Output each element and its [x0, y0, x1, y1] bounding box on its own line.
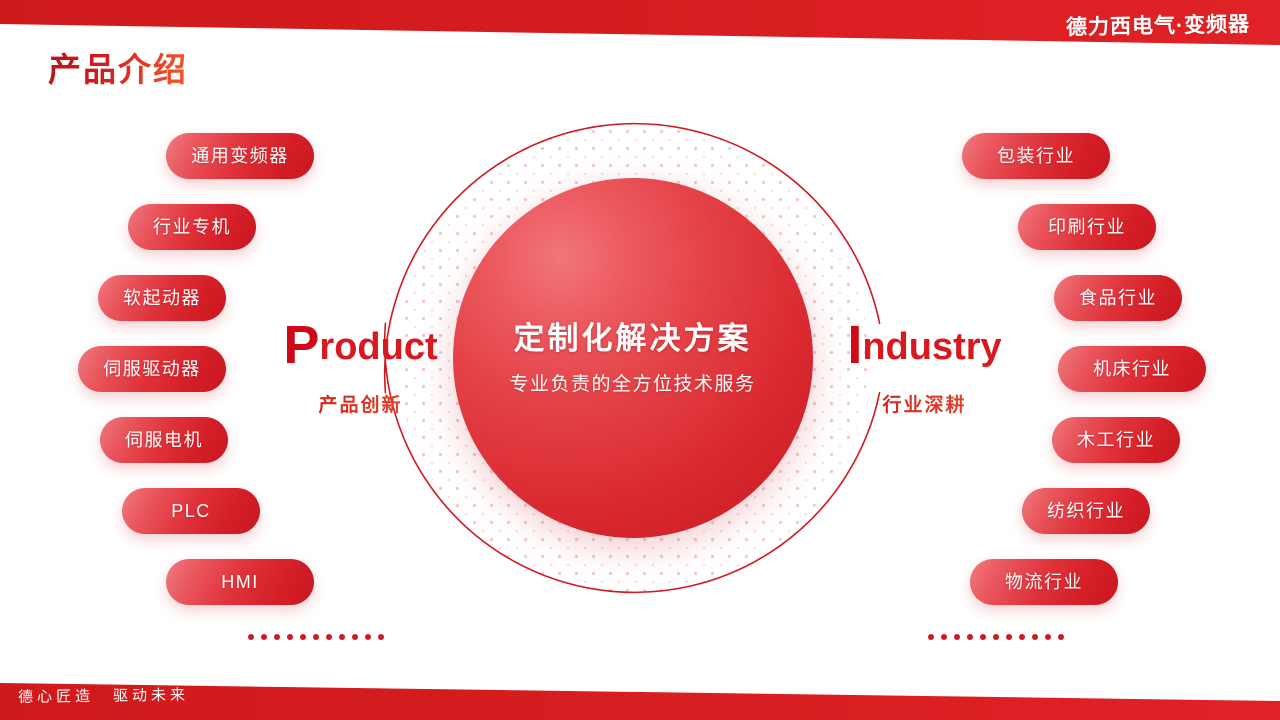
slide-root: 德力西电气·变频器 产品介绍 定制化解决方案 专业负责的全方位技术服务 Prod… [0, 0, 1280, 720]
pill-left-5[interactable]: PLC [122, 488, 260, 534]
brand-logo: 德力西电气·变频器 [1066, 8, 1251, 41]
pill-right-3[interactable]: 机床行业 [1058, 346, 1206, 392]
decor-left-dot [274, 634, 280, 640]
decor-left-dot [339, 634, 345, 640]
dot-row-right [928, 634, 1064, 640]
pill-right-5[interactable]: 纺织行业 [1022, 488, 1150, 534]
center-circle: 定制化解决方案 专业负责的全方位技术服务 [453, 178, 813, 538]
decor-left-dot [261, 634, 267, 640]
center-subtitle: 专业负责的全方位技术服务 [509, 369, 755, 396]
decor-right-dot [980, 634, 986, 640]
decor-right-dot [941, 634, 947, 640]
decor-left-dot [248, 634, 254, 640]
industry-pill-column: 包装行业印刷行业食品行业机床行业木工行业纺织行业物流行业 [930, 133, 1260, 630]
pill-left-2[interactable]: 软起动器 [98, 275, 226, 321]
industry-heading-initial: I [847, 315, 862, 375]
decor-left-dot [326, 634, 332, 640]
decor-right-dot [1006, 634, 1012, 640]
decor-right-dot [1019, 634, 1025, 640]
decor-left-dot [313, 634, 319, 640]
center-title: 定制化解决方案 [514, 320, 752, 359]
footer-band: 德心匠造 驱动未来 [0, 665, 1280, 720]
dot-row-left [248, 634, 384, 640]
decor-right-dot [954, 634, 960, 640]
pill-left-4[interactable]: 伺服电机 [100, 417, 228, 463]
footer-slogan: 德心匠造 驱动未来 [18, 684, 189, 707]
pill-right-2[interactable]: 食品行业 [1054, 275, 1182, 321]
product-pill-column: 通用变频器行业专机软起动器伺服驱动器伺服电机PLCHMI [60, 133, 390, 630]
pill-right-1[interactable]: 印刷行业 [1018, 204, 1156, 250]
decor-right-dot [967, 634, 973, 640]
pill-right-4[interactable]: 木工行业 [1052, 417, 1180, 463]
decor-left-dot [352, 634, 358, 640]
pill-left-3[interactable]: 伺服驱动器 [78, 346, 226, 392]
decor-left-dot [287, 634, 293, 640]
page-title: 产品介绍 [48, 52, 188, 88]
decor-left-dot [365, 634, 371, 640]
pill-left-6[interactable]: HMI [166, 559, 314, 605]
decor-right-dot [1045, 634, 1051, 640]
decor-left-dot [378, 634, 384, 640]
decor-left-dot [300, 634, 306, 640]
pill-right-0[interactable]: 包装行业 [962, 133, 1110, 179]
decor-right-dot [928, 634, 934, 640]
pill-left-0[interactable]: 通用变频器 [166, 133, 314, 179]
footer-band-shape [0, 665, 1280, 720]
decor-right-dot [1058, 634, 1064, 640]
pill-right-6[interactable]: 物流行业 [970, 559, 1118, 605]
decor-right-dot [993, 634, 999, 640]
header-band: 德力西电气·变频器 [0, 0, 1280, 50]
pill-left-1[interactable]: 行业专机 [128, 204, 256, 250]
decor-right-dot [1032, 634, 1038, 640]
